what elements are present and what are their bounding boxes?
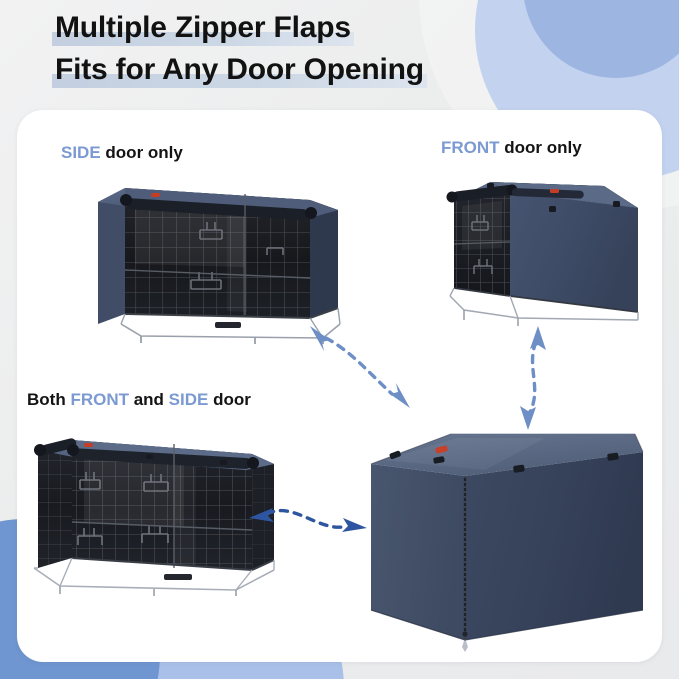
panel-label-both-prefix: Both: [27, 390, 70, 409]
crate-figure-front-door-open: [432, 170, 657, 335]
panel-label-rest: door only: [101, 143, 183, 162]
crate-figure-side-door-open: [95, 172, 345, 347]
headline-line-1: Multiple Zipper Flaps: [52, 8, 354, 48]
crate-figure-fully-closed-cover: [365, 428, 655, 668]
panel-label-accent: FRONT: [441, 138, 500, 157]
decorative-circle-top-right-dark: [523, 0, 679, 78]
panel-label-rest: door only: [500, 138, 582, 157]
panel-label-accent-front: FRONT: [70, 390, 129, 409]
panel-label-both-front-and-side-door: Both FRONT and SIDE door: [27, 390, 251, 410]
headline-line-2: Fits for Any Door Opening: [52, 50, 427, 90]
panel-label-suffix: door: [208, 390, 251, 409]
panel-label-accent: SIDE: [61, 143, 101, 162]
panel-label-accent-side: SIDE: [169, 390, 209, 409]
panel-label-conjunction: and: [129, 390, 169, 409]
crate-figure-both-doors-open: [24, 418, 286, 596]
headline: Multiple Zipper Flaps Fits for Any Door …: [52, 8, 427, 90]
panel-label-side-door-only: SIDE door only: [61, 143, 183, 163]
panel-label-front-door-only: FRONT door only: [441, 138, 582, 158]
infographic-canvas: Multiple Zipper Flaps Fits for Any Door …: [0, 0, 679, 679]
